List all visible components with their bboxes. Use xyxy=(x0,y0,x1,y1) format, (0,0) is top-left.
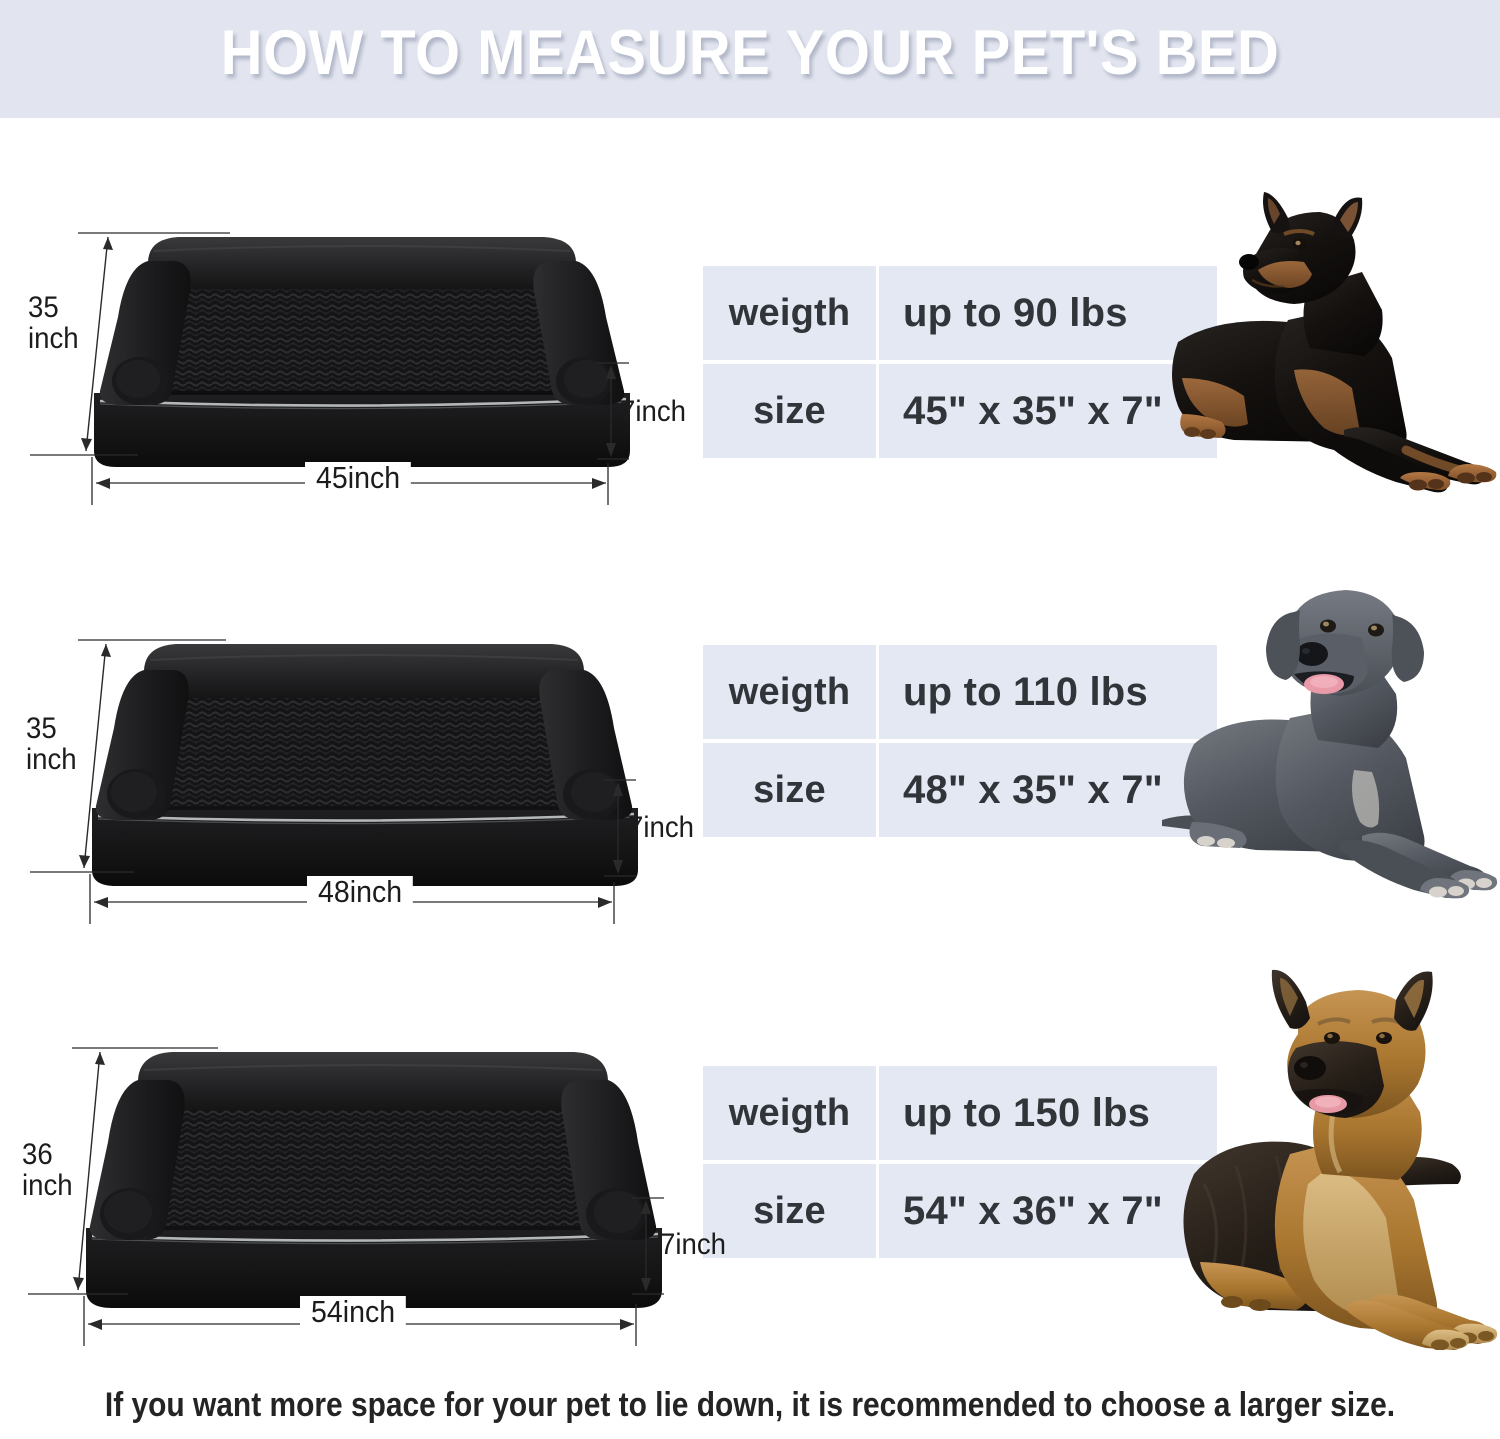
spec-table-45: weigth up to 90 lbs size 45" x 35" x 7" xyxy=(703,266,1217,458)
spec-table-48: weigth up to 110 lbs size 48" x 35" x 7" xyxy=(703,645,1217,837)
bed-thickness-label-54: 7inch xyxy=(660,1229,726,1260)
bed-height-label-45: 35 inch xyxy=(28,292,79,354)
dog-photo-german-shepherd xyxy=(1148,968,1500,1350)
dog-photo-doberman xyxy=(1148,192,1500,512)
spec-weight-key-54: weigth xyxy=(703,1066,879,1160)
bed-width-label-48: 48inch xyxy=(307,876,413,907)
great-dane-illustration xyxy=(1148,582,1500,912)
spec-size-key-48: size xyxy=(703,743,879,837)
bed-body-54 xyxy=(86,1052,662,1308)
footer-note: If you want more space for your pet to l… xyxy=(90,1386,1410,1425)
spec-weight-key-45: weigth xyxy=(703,266,879,360)
bed-height-label-48: 35 inch xyxy=(26,713,77,775)
spec-size-key-54: size xyxy=(703,1164,879,1258)
bed-thickness-label-48: 7inch xyxy=(628,812,694,843)
bed-body-45 xyxy=(94,237,630,467)
bed-width-label-45: 45inch xyxy=(305,462,411,493)
dog-photo-great-dane xyxy=(1148,582,1500,912)
page-title: HOW TO MEASURE YOUR PET'S BED xyxy=(60,13,1440,93)
spec-size-key-45: size xyxy=(703,364,879,458)
bed-thickness-label-45: 7inch xyxy=(620,396,686,427)
bed-width-label-54: 54inch xyxy=(300,1296,406,1327)
spec-weight-key-48: weigth xyxy=(703,645,879,739)
spec-table-54: weigth up to 150 lbs size 54" x 36" x 7" xyxy=(703,1066,1217,1258)
german-shepherd-illustration xyxy=(1148,968,1500,1350)
bed-height-label-54: 36 inch xyxy=(22,1139,73,1201)
doberman-illustration xyxy=(1148,192,1500,512)
bed-body-48 xyxy=(92,644,638,886)
